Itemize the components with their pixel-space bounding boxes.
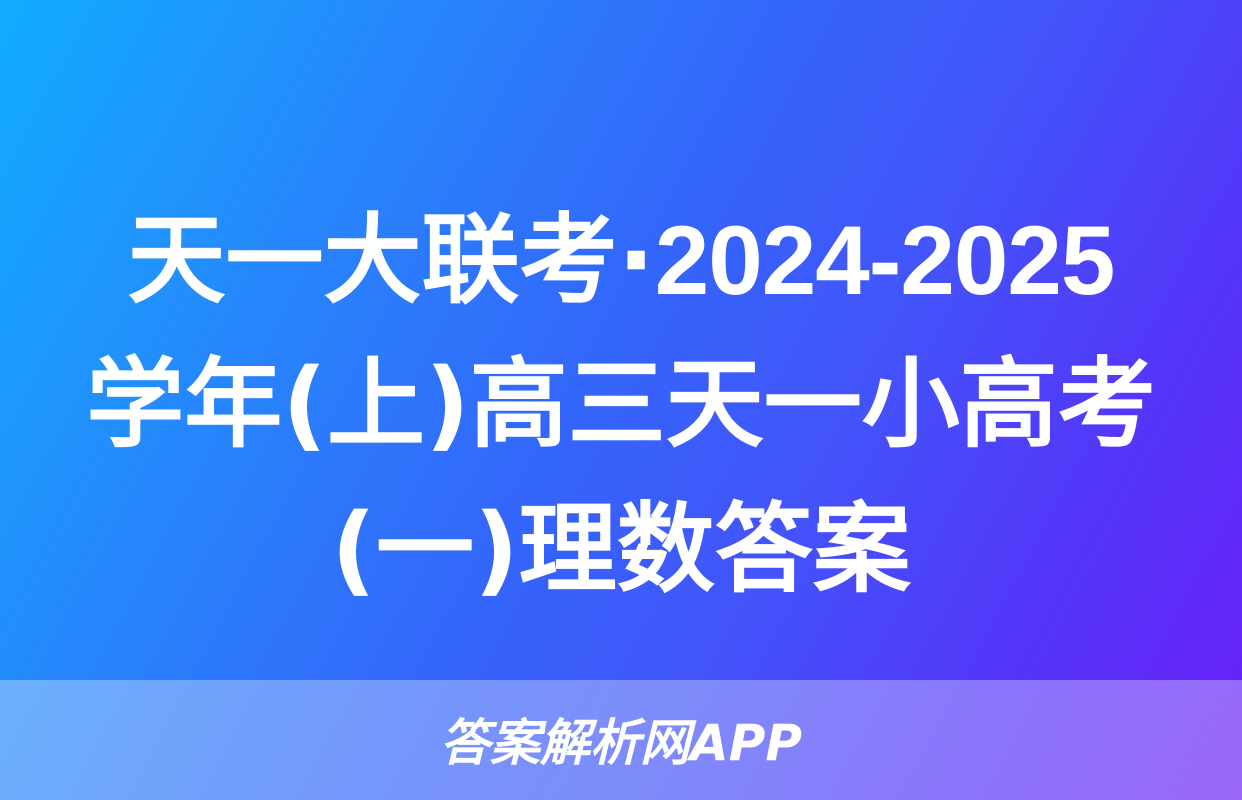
exam-year-range: 2024-2025 <box>655 205 1115 315</box>
watermark-label: 答案解析网APP <box>440 718 802 768</box>
title-line-1: 天一大联考·2024-2025 <box>0 188 1242 333</box>
poster-canvas: 天一大联考·2024-2025 学年(上)高三天一小高考 (一)理数答案 答案解… <box>0 0 1242 800</box>
page-title: 天一大联考·2024-2025 学年(上)高三天一小高考 (一)理数答案 <box>0 188 1242 623</box>
watermark-bar: 答案解析网APP <box>0 680 1242 800</box>
title-line-2: 学年(上)高三天一小高考 <box>0 333 1242 478</box>
title-line-3: (一)理数答案 <box>0 478 1242 623</box>
